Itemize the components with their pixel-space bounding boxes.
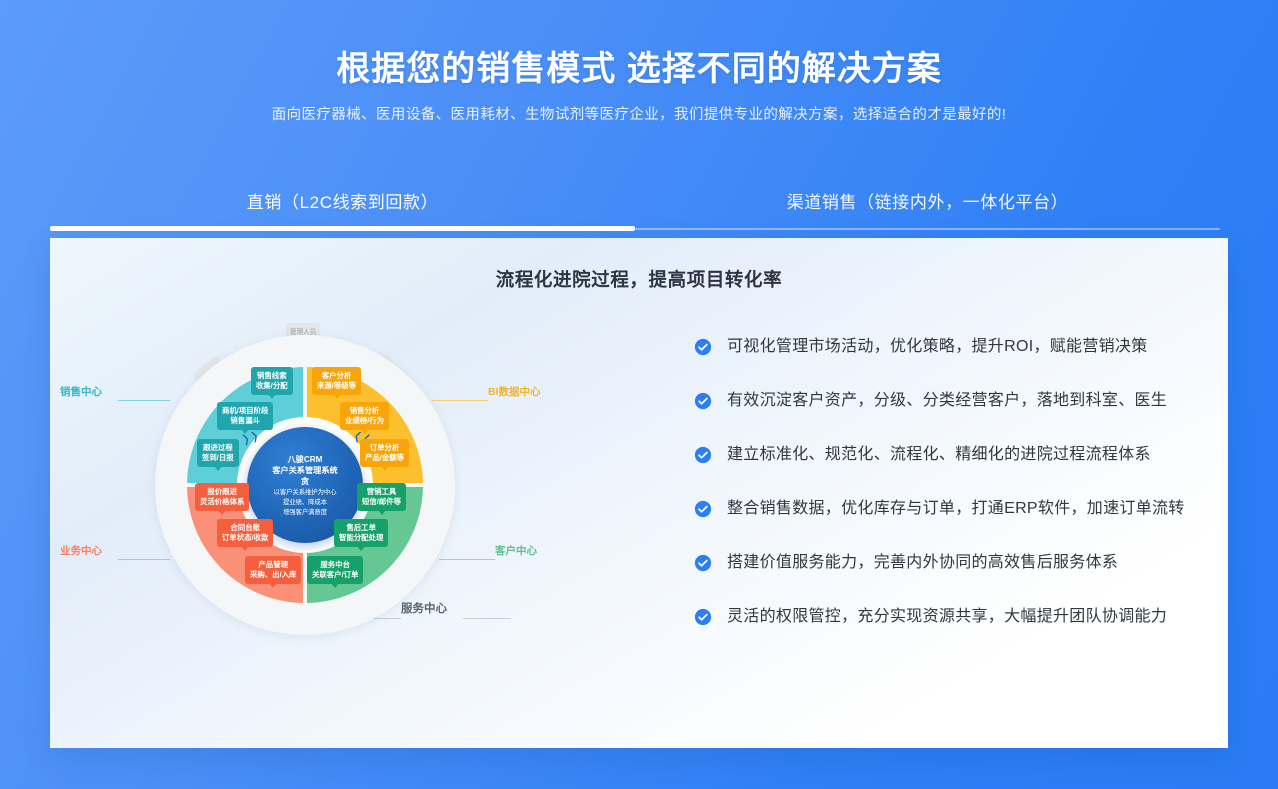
tab-direct-sales[interactable]: 直销（L2C线索到回款） [50,188,635,231]
chip-contract-line1: 合同台账 [222,523,268,533]
hub-mark: 贪 [301,476,309,487]
chip-quote-line2: 灵活价格体系 [200,497,244,507]
center-label-business-center: 业务中心 [60,543,102,558]
chip-contract[interactable]: 合同台账 订单状态/收款 [217,519,273,547]
chip-after-sales-line2: 智能分配处理 [339,533,383,543]
card-title: 流程化进院过程，提高项目转化率 [50,238,1228,292]
chip-quote-line1: 报价跟进 [200,487,244,497]
list-item-label: 搭建价值服务能力，完善内外协同的高效售后服务体系 [727,552,1118,574]
chip-order-analysis-line2: 产品/金额等 [365,453,404,463]
solution-tabs: 直销（L2C线索到回款） 渠道销售（链接内外，一体化平台） [50,188,1228,231]
tab-active-underline [50,226,635,231]
chip-opportunity[interactable]: 商机/项目阶段 销售漏斗 [217,402,273,430]
check-circle-icon [694,392,712,410]
chip-marketing-tool-line2: 短信/邮件等 [362,497,401,507]
chip-order-analysis-line1: 订单分析 [365,443,404,453]
chip-service-hub-line1: 服务中台 [312,560,358,570]
page-header: 根据您的销售模式 选择不同的解决方案 面向医疗器械、医用设备、医用耗材、生物试剂… [0,0,1278,126]
chip-product-line1: 产品管理 [250,560,296,570]
list-item-label: 整合销售数据，优化库存与订单，打通ERP软件，加速订单流转 [727,498,1185,520]
center-label-bi-center: BI数据中心 [488,384,541,399]
center-label-bi-center-text: BI数据中心 [488,386,541,398]
chip-customer-analysis[interactable]: 客户分析 来源/等级等 [312,367,361,395]
hub-brand: 八骏CRM [287,454,322,465]
benefit-list: 可视化管理市场活动，优化策略，提升ROI，赋能营销决策 有效沉淀客户资产，分级、… [610,310,1228,740]
center-label-sales-center: 销售中心 [60,384,102,399]
chip-product-line2: 采购、出/入库 [250,570,296,580]
check-circle-icon [694,446,712,464]
check-circle-icon [694,554,712,572]
chip-followup[interactable]: 跟进过程 签到/日报 [197,439,239,467]
crm-wheel-diagram: 管理人员 销售 渠道 经销商 供应商 服务部门 协同人员 售后 营销 人员 决策… [50,310,610,740]
chip-order-analysis[interactable]: 订单分析 产品/金额等 [360,439,409,467]
chip-marketing-tool[interactable]: 营销工具 短信/邮件等 [357,483,406,511]
tab-inactive-underline [635,228,1220,230]
hub-system-name: 客户关系管理系统 [272,465,338,476]
chip-sales-lead-line1: 销售线索 [256,371,288,381]
solution-card: 流程化进院过程，提高项目转化率 管理人员 销售 渠道 经销商 供应商 服务部门 … [50,238,1228,748]
chip-product[interactable]: 产品管理 采购、出/入库 [245,556,301,584]
chip-opportunity-line1: 商机/项目阶段 [222,406,268,416]
check-circle-icon [694,608,712,626]
list-item: 建立标准化、规范化、流程化、精细化的进院过程流程体系 [694,444,1188,466]
chip-customer-analysis-line1: 客户分析 [317,371,356,381]
page-title: 根据您的销售模式 选择不同的解决方案 [0,46,1278,92]
chip-service-hub-line2: 关联客户/订单 [312,570,358,580]
tab-channel-sales-label: 渠道销售（链接内外，一体化平台） [635,188,1220,213]
leader-line-service-center-right [463,618,511,619]
hub-sub-2: 提业绩、降成本 [283,498,327,507]
chip-sales-analysis[interactable]: 销售分析 业绩榜/行为 [340,402,389,430]
chip-sales-lead-line2: 收集/分配 [256,381,288,391]
chip-quote[interactable]: 报价跟进 灵活价格体系 [195,483,249,511]
chip-after-sales-line1: 售后工单 [339,523,383,533]
list-item: 灵活的权限管控，充分实现资源共享，大幅提升团队协调能力 [694,606,1188,628]
chip-customer-analysis-line2: 来源/等级等 [317,381,356,391]
chip-followup-line1: 跟进过程 [202,443,234,453]
center-label-customer-center: 客户中心 [495,543,537,558]
list-item: 整合销售数据，优化库存与订单，打通ERP软件，加速订单流转 [694,498,1188,520]
wheel: ❭❭ ❭❭ ❭❭ ❭❭ 八骏CRM 客户关系管理系统 贪 以客户关系维护为中心 … [155,335,455,635]
page-subtitle: 面向医疗器械、医用设备、医用耗材、生物试剂等医疗企业，我们提供专业的解决方案，选… [0,104,1278,126]
list-item-label: 可视化管理市场活动，优化策略，提升ROI，赋能营销决策 [727,336,1148,358]
chip-service-hub[interactable]: 服务中台 关联客户/订单 [307,556,363,584]
list-item-label: 有效沉淀客户资产，分级、分类经营客户，落地到科室、医生 [727,390,1167,412]
list-item: 搭建价值服务能力，完善内外协同的高效售后服务体系 [694,552,1188,574]
card-body: 管理人员 销售 渠道 经销商 供应商 服务部门 协同人员 售后 营销 人员 决策… [50,292,1228,740]
chip-sales-analysis-line1: 销售分析 [345,406,384,416]
chip-after-sales[interactable]: 售后工单 智能分配处理 [334,519,388,547]
list-item-label: 建立标准化、规范化、流程化、精细化的进院过程流程体系 [727,444,1151,466]
list-item: 有效沉淀客户资产，分级、分类经营客户，落地到科室、医生 [694,390,1188,412]
chip-sales-lead[interactable]: 销售线索 收集/分配 [251,367,293,395]
center-label-customer-center-text: 客户中心 [495,545,537,557]
list-item: 可视化管理市场活动，优化策略，提升ROI，赋能营销决策 [694,336,1188,358]
chip-marketing-tool-line1: 营销工具 [362,487,401,497]
chip-opportunity-line2: 销售漏斗 [222,416,268,426]
chip-contract-line2: 订单状态/收款 [222,533,268,543]
center-label-business-center-text: 业务中心 [60,545,102,557]
hub-sub-1: 以客户关系维护为中心 [274,488,337,497]
hub-sub-3: 增强客户满意度 [283,508,327,517]
check-circle-icon [694,338,712,356]
chip-followup-line2: 签到/日报 [202,453,234,463]
chip-sales-analysis-line2: 业绩榜/行为 [345,416,384,426]
list-item-label: 灵活的权限管控，充分实现资源共享，大幅提升团队协调能力 [727,606,1167,628]
check-circle-icon [694,500,712,518]
center-label-sales-center-text: 销售中心 [60,386,102,398]
tab-direct-sales-label: 直销（L2C线索到回款） [50,188,635,213]
tab-channel-sales[interactable]: 渠道销售（链接内外，一体化平台） [635,188,1220,231]
